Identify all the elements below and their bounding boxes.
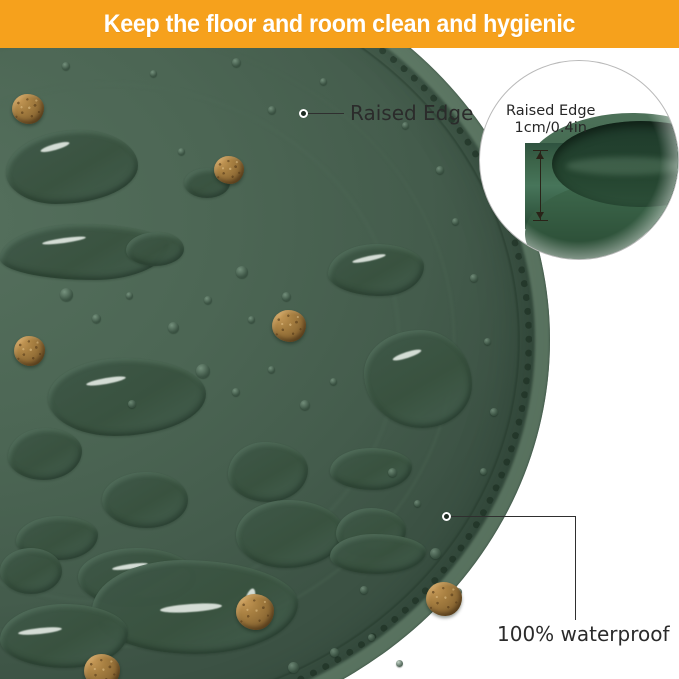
banner-headline: Keep the floor and room clean and hygien… bbox=[104, 10, 575, 39]
waterproof-leader-vertical bbox=[575, 516, 576, 620]
water-droplet bbox=[196, 364, 210, 378]
inset-caption-measurement: 1cm/0.4in bbox=[506, 120, 595, 137]
water-droplet bbox=[300, 400, 310, 410]
kibble-piece bbox=[214, 156, 244, 184]
water-droplet bbox=[232, 388, 240, 396]
raised-edge-leader-line bbox=[308, 113, 344, 114]
water-droplet bbox=[430, 548, 441, 559]
raised-edge-detail-inset: Raised Edge 1cm/0.4in bbox=[479, 60, 679, 260]
water-droplet bbox=[178, 148, 185, 155]
water-droplet bbox=[388, 468, 397, 477]
water-puddle bbox=[126, 232, 184, 266]
water-droplet bbox=[452, 218, 459, 225]
water-droplet bbox=[168, 322, 179, 333]
water-puddle bbox=[0, 548, 62, 594]
header-banner: Keep the floor and room clean and hygien… bbox=[0, 0, 679, 48]
water-droplet bbox=[436, 166, 444, 174]
water-droplet bbox=[268, 106, 276, 114]
edge-height-measure-cap-bottom bbox=[533, 220, 548, 221]
water-droplet bbox=[470, 274, 478, 282]
waterproof-marker-dot bbox=[442, 512, 451, 521]
waterproof-callout-label: 100% waterproof bbox=[497, 622, 670, 646]
kibble-piece bbox=[12, 94, 44, 124]
kibble-piece bbox=[236, 594, 274, 630]
water-droplet bbox=[330, 648, 339, 657]
water-droplet bbox=[480, 468, 487, 475]
water-droplet bbox=[320, 78, 327, 85]
edge-height-arrow-down bbox=[536, 212, 544, 219]
water-droplet bbox=[128, 400, 136, 408]
water-droplet bbox=[236, 266, 248, 278]
water-droplet bbox=[268, 366, 275, 373]
edge-height-measure-cap-top bbox=[533, 150, 548, 151]
water-droplet bbox=[360, 586, 368, 594]
edge-height-arrow-up bbox=[536, 152, 544, 159]
water-droplet bbox=[484, 338, 491, 345]
kibble-piece bbox=[426, 582, 462, 616]
kibble-piece bbox=[14, 336, 45, 366]
water-droplet bbox=[92, 314, 101, 323]
water-droplet bbox=[62, 62, 70, 70]
water-droplet bbox=[330, 378, 337, 385]
water-droplet bbox=[60, 288, 73, 301]
water-droplet bbox=[490, 408, 498, 416]
water-puddle bbox=[330, 448, 412, 490]
water-droplet bbox=[282, 292, 291, 301]
kibble-piece bbox=[84, 654, 120, 679]
water-droplet bbox=[368, 634, 375, 641]
kibble-piece bbox=[272, 310, 306, 342]
edge-height-measure-line bbox=[540, 150, 541, 220]
water-droplet bbox=[150, 70, 157, 77]
water-droplet bbox=[248, 316, 255, 323]
waterproof-leader-horizontal bbox=[451, 516, 576, 517]
water-droplet bbox=[126, 292, 133, 299]
inset-rim-gloss-highlight bbox=[566, 157, 679, 175]
water-puddle bbox=[102, 472, 188, 528]
water-droplet bbox=[414, 500, 421, 507]
product-infographic: Keep the floor and room clean and hygien… bbox=[0, 0, 679, 679]
raised-edge-callout-label: Raised Edge bbox=[350, 101, 473, 125]
inset-caption-title: Raised Edge bbox=[506, 103, 595, 120]
inset-caption: Raised Edge 1cm/0.4in bbox=[506, 103, 595, 137]
water-puddle bbox=[328, 244, 424, 296]
water-droplet bbox=[288, 662, 299, 673]
water-droplet bbox=[204, 296, 212, 304]
water-droplet bbox=[232, 58, 241, 67]
raised-edge-marker-dot bbox=[299, 109, 308, 118]
water-droplet bbox=[396, 660, 403, 667]
